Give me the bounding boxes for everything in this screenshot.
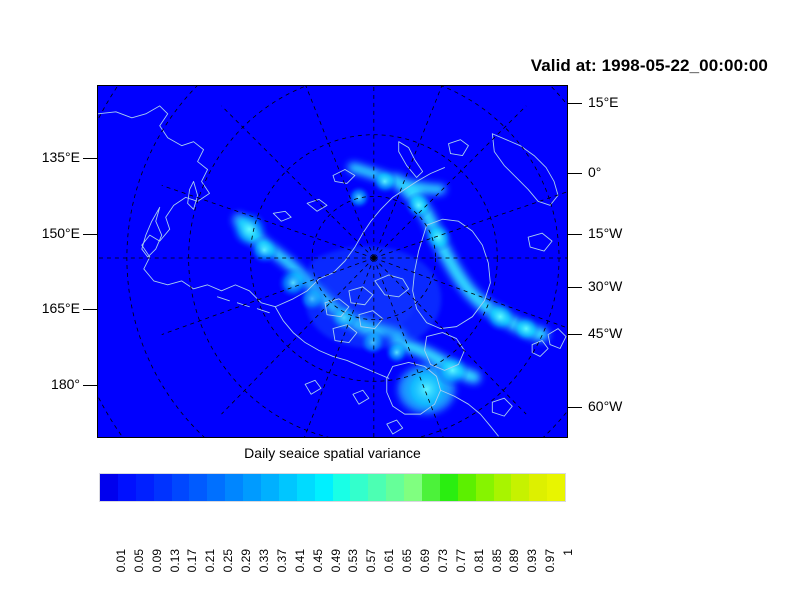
colorbar-band-17	[404, 474, 422, 501]
colorbar-band-12	[315, 474, 333, 501]
colorbar-band-5	[189, 474, 207, 501]
colorbar-band-4	[172, 474, 190, 501]
colorbar-tick-3: 0.13	[168, 549, 182, 572]
left-tick-label-3: 180°	[18, 376, 80, 392]
colorbar-band-6	[207, 474, 225, 501]
colorbar-band-25	[547, 474, 565, 501]
colorbar-tick-8: 0.33	[257, 549, 271, 572]
colorbar-tick-24: 0.97	[543, 549, 557, 572]
colorbar-tick-14: 0.57	[364, 549, 378, 572]
colorbar-tick-12: 0.49	[329, 549, 343, 572]
right-tick-label-0: 15°E	[588, 94, 619, 110]
colorbar-band-2	[136, 474, 154, 501]
colorbar-band-16	[386, 474, 404, 501]
colorbar-band-21	[476, 474, 494, 501]
colorbar-band-24	[529, 474, 547, 501]
right-tick-label-4: 45°W	[588, 325, 622, 341]
left-tick-label-1: 150°E	[18, 225, 80, 241]
colorbar-tick-25: 1	[561, 549, 575, 556]
colorbar-tick-21: 0.85	[490, 549, 504, 572]
colorbar-band-23	[511, 474, 529, 501]
left-tick-label-2: 165°E	[18, 300, 80, 316]
arctic-map-svg	[98, 86, 567, 437]
colorbar-band-14	[350, 474, 368, 501]
colorbar-band-18	[422, 474, 440, 501]
colorbar-tick-5: 0.21	[203, 549, 217, 572]
left-tick-mark-1	[83, 234, 97, 235]
colorbar-band-8	[243, 474, 261, 501]
colorbar-tick-4: 0.17	[185, 549, 199, 572]
right-tick-label-5: 60°W	[588, 398, 622, 414]
colorbar-tick-16: 0.65	[400, 549, 414, 572]
page-title: Valid at: 1998-05-22_00:00:00	[531, 56, 768, 76]
right-tick-mark-3	[568, 287, 582, 288]
colorbar-tick-18: 0.73	[436, 549, 450, 572]
colorbar-tick-9: 0.37	[275, 549, 289, 572]
right-tick-label-3: 30°W	[588, 278, 622, 294]
colorbar-tick-0: 0.01	[114, 549, 128, 572]
right-tick-mark-0	[568, 103, 582, 104]
colorbar-tick-10: 0.41	[293, 549, 307, 572]
colorbar-tick-6: 0.25	[221, 549, 235, 572]
right-tick-label-1: 0°	[588, 164, 601, 180]
colorbar-gradient	[100, 474, 565, 501]
left-tick-mark-2	[83, 309, 97, 310]
colorbar-tick-22: 0.89	[507, 549, 521, 572]
right-tick-mark-5	[568, 407, 582, 408]
colorbar-caption: Daily seaice spatial variance	[97, 445, 568, 461]
colorbar-tick-1: 0.05	[132, 549, 146, 572]
colorbar-band-1	[118, 474, 136, 501]
colorbar-band-15	[368, 474, 386, 501]
right-tick-mark-4	[568, 334, 582, 335]
colorbar-band-0	[100, 474, 118, 501]
colorbar-band-7	[225, 474, 243, 501]
colorbar-tick-23: 0.93	[525, 549, 539, 572]
colorbar-band-20	[458, 474, 476, 501]
right-tick-mark-2	[568, 234, 582, 235]
left-tick-mark-0	[83, 158, 97, 159]
colorbar-tick-19: 0.77	[454, 549, 468, 572]
colorbar-band-13	[333, 474, 351, 501]
colorbar-band-22	[494, 474, 512, 501]
colorbar-tick-2: 0.09	[150, 549, 164, 572]
colorbar-tick-labels: 0.010.050.090.130.170.210.250.290.330.37…	[100, 505, 565, 575]
colorbar-band-10	[279, 474, 297, 501]
colorbar	[100, 474, 565, 501]
colorbar-band-11	[297, 474, 315, 501]
right-tick-mark-1	[568, 173, 582, 174]
colorbar-tick-17: 0.69	[418, 549, 432, 572]
colorbar-tick-15: 0.61	[382, 549, 396, 572]
right-tick-label-2: 15°W	[588, 225, 622, 241]
colorbar-band-3	[154, 474, 172, 501]
left-tick-label-0: 135°E	[18, 149, 80, 165]
map-plot-area	[97, 85, 568, 438]
left-tick-mark-3	[83, 385, 97, 386]
colorbar-tick-7: 0.29	[239, 549, 253, 572]
colorbar-tick-20: 0.81	[472, 549, 486, 572]
colorbar-tick-11: 0.45	[311, 549, 325, 572]
colorbar-tick-13: 0.53	[346, 549, 360, 572]
colorbar-band-9	[261, 474, 279, 501]
colorbar-band-19	[440, 474, 458, 501]
